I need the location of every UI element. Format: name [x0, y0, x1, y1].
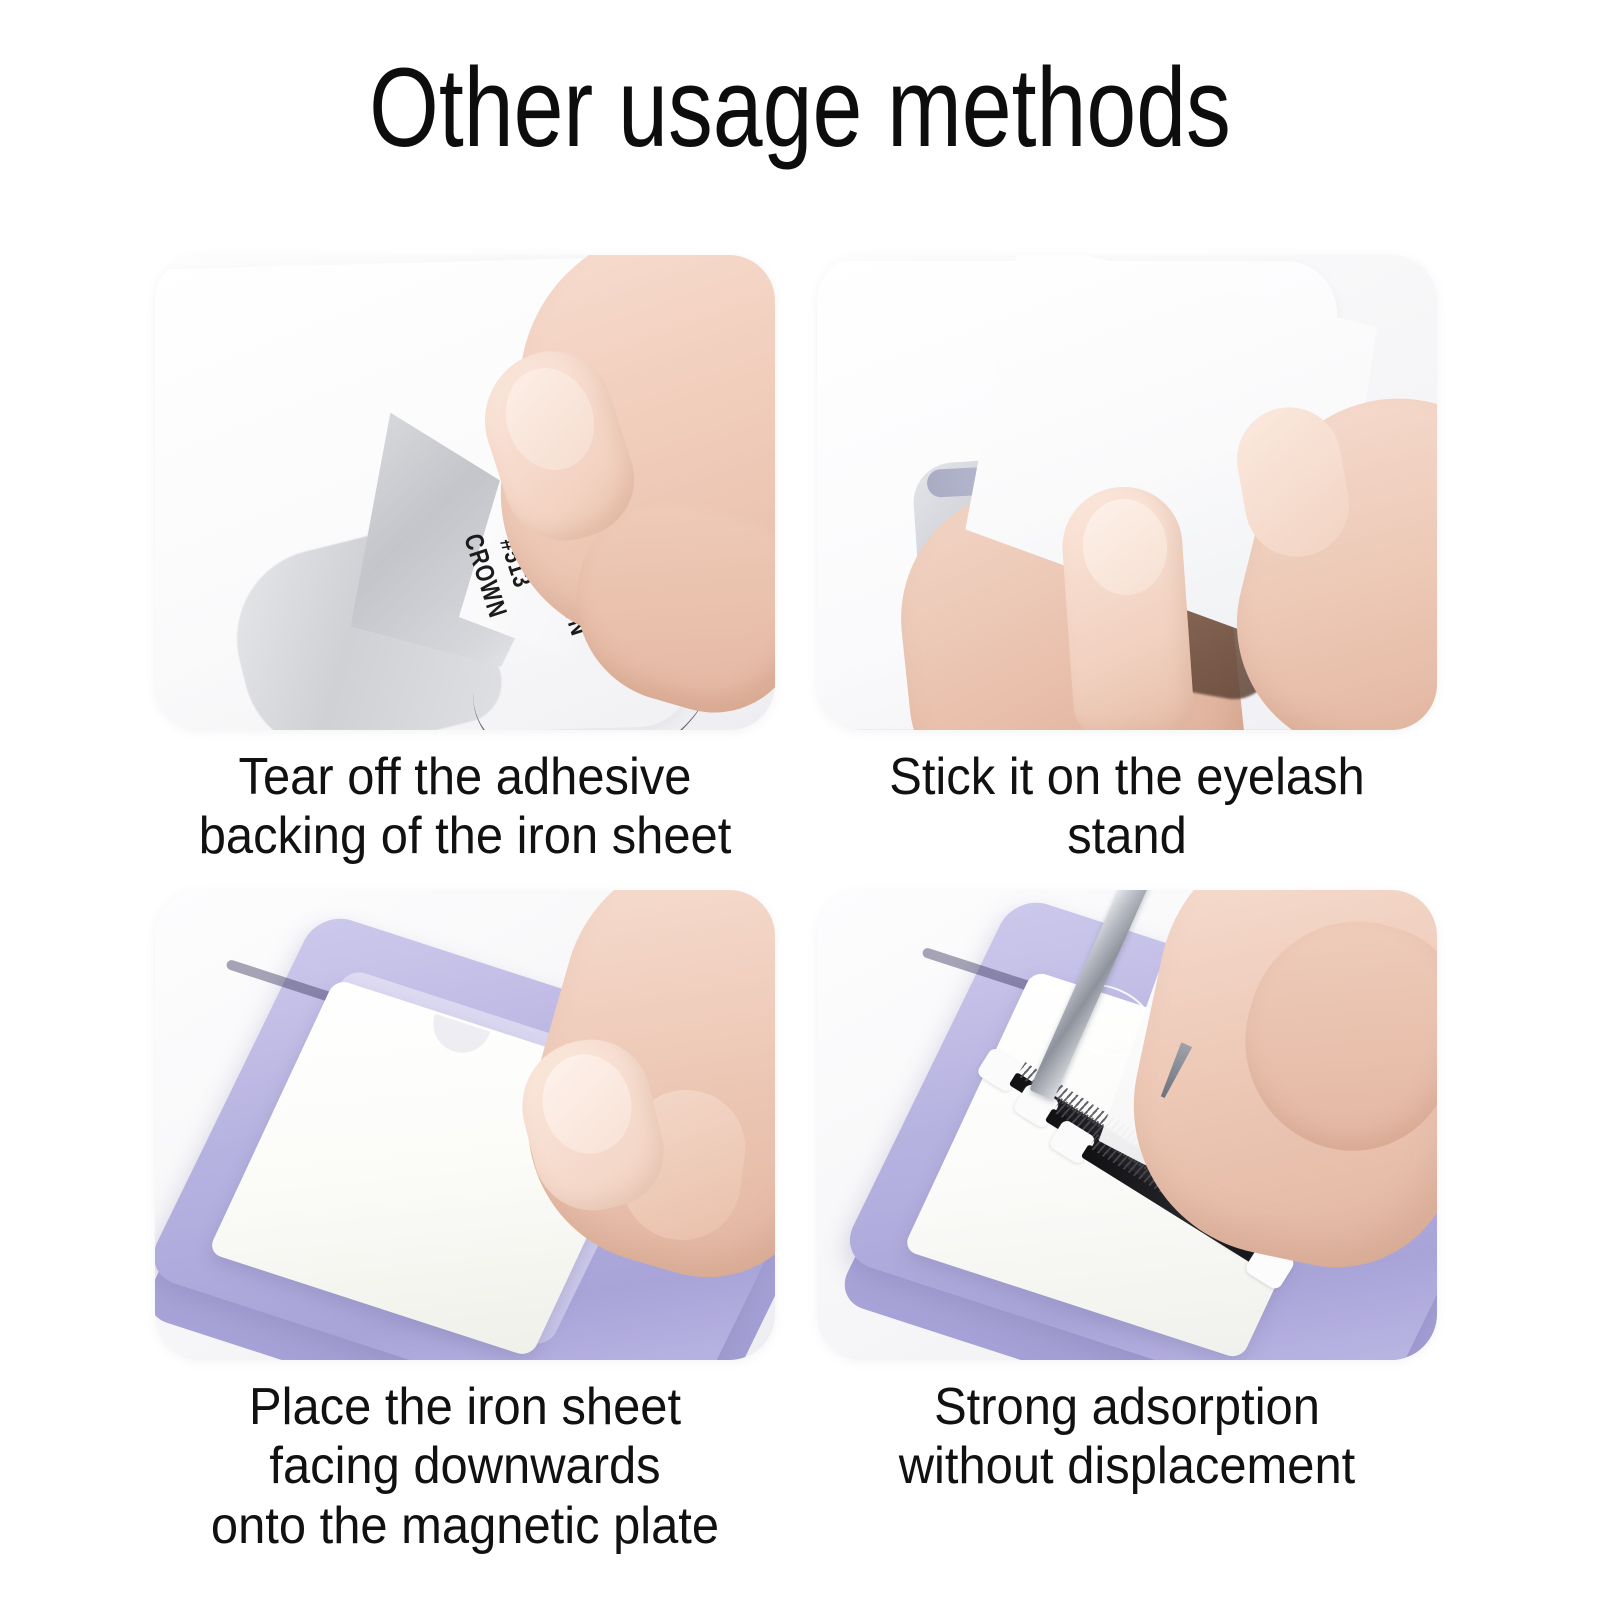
usage-steps-grid: CROWN #513 CROWN Tear off the adhesive b…	[155, 255, 1445, 1555]
step-1-caption: Tear off the adhesive backing of the iro…	[174, 730, 757, 890]
step-3-caption: Place the iron sheet facing downwards on…	[174, 1360, 757, 1555]
step-4-caption: Strong adsorption without displacement	[836, 1360, 1419, 1555]
step-4-photo	[817, 890, 1437, 1360]
step-2-caption: Stick it on the eyelash stand	[836, 730, 1419, 890]
step-3-photo	[155, 890, 775, 1360]
step-2-photo	[817, 255, 1437, 730]
page-title: Other usage methods	[160, 52, 1440, 164]
step-1-photo: CROWN #513 CROWN	[155, 255, 775, 730]
